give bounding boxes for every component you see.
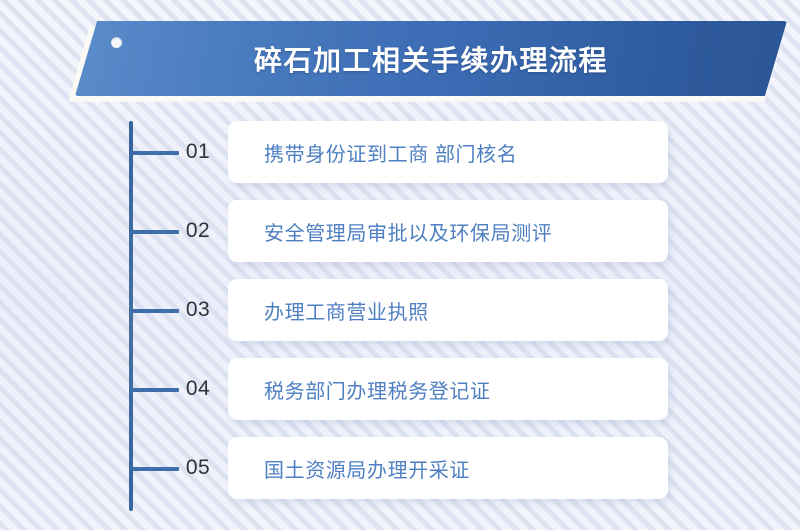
page-title: 碎石加工相关手续办理流程 xyxy=(75,21,787,96)
step-card[interactable]: 办理工商营业执照 xyxy=(228,279,668,341)
timeline-step-02[interactable]: 02 安全管理局审批以及环保局测评 xyxy=(0,192,800,271)
timeline-step-04[interactable]: 04 税务部门办理税务登记证 xyxy=(0,350,800,429)
timeline-tick xyxy=(131,388,179,392)
timeline-steps: 01 携带身份证到工商 部门核名 02 安全管理局审批以及环保局测评 03 办理… xyxy=(0,113,800,508)
infographic-poster: 碎石加工相关手续办理流程 01 携带身份证到工商 部门核名 02 安全管理局审批… xyxy=(0,0,800,530)
timeline-tick xyxy=(131,230,179,234)
timeline-step-05[interactable]: 05 国土资源局办理开采证 xyxy=(0,429,800,508)
timeline-step-01[interactable]: 01 携带身份证到工商 部门核名 xyxy=(0,113,800,192)
timeline-tick xyxy=(131,467,179,471)
step-label: 国土资源局办理开采证 xyxy=(228,454,470,483)
step-label: 携带身份证到工商 部门核名 xyxy=(228,138,517,167)
banner-shape: 碎石加工相关手续办理流程 xyxy=(75,21,787,96)
step-card[interactable]: 税务部门办理税务登记证 xyxy=(228,358,668,420)
step-card[interactable]: 携带身份证到工商 部门核名 xyxy=(228,121,668,183)
step-number: 04 xyxy=(175,374,221,404)
step-number: 05 xyxy=(175,453,221,483)
timeline-tick xyxy=(131,151,179,155)
timeline-tick xyxy=(131,309,179,313)
step-card[interactable]: 安全管理局审批以及环保局测评 xyxy=(228,200,668,262)
step-number: 02 xyxy=(175,216,221,246)
step-label: 办理工商营业执照 xyxy=(228,296,429,325)
step-number: 01 xyxy=(175,137,221,167)
timeline-step-03[interactable]: 03 办理工商营业执照 xyxy=(0,271,800,350)
step-label: 税务部门办理税务登记证 xyxy=(228,375,491,404)
step-number: 03 xyxy=(175,295,221,325)
header-banner: 碎石加工相关手续办理流程 xyxy=(62,18,792,104)
step-card[interactable]: 国土资源局办理开采证 xyxy=(228,437,668,499)
step-label: 安全管理局审批以及环保局测评 xyxy=(228,217,552,246)
